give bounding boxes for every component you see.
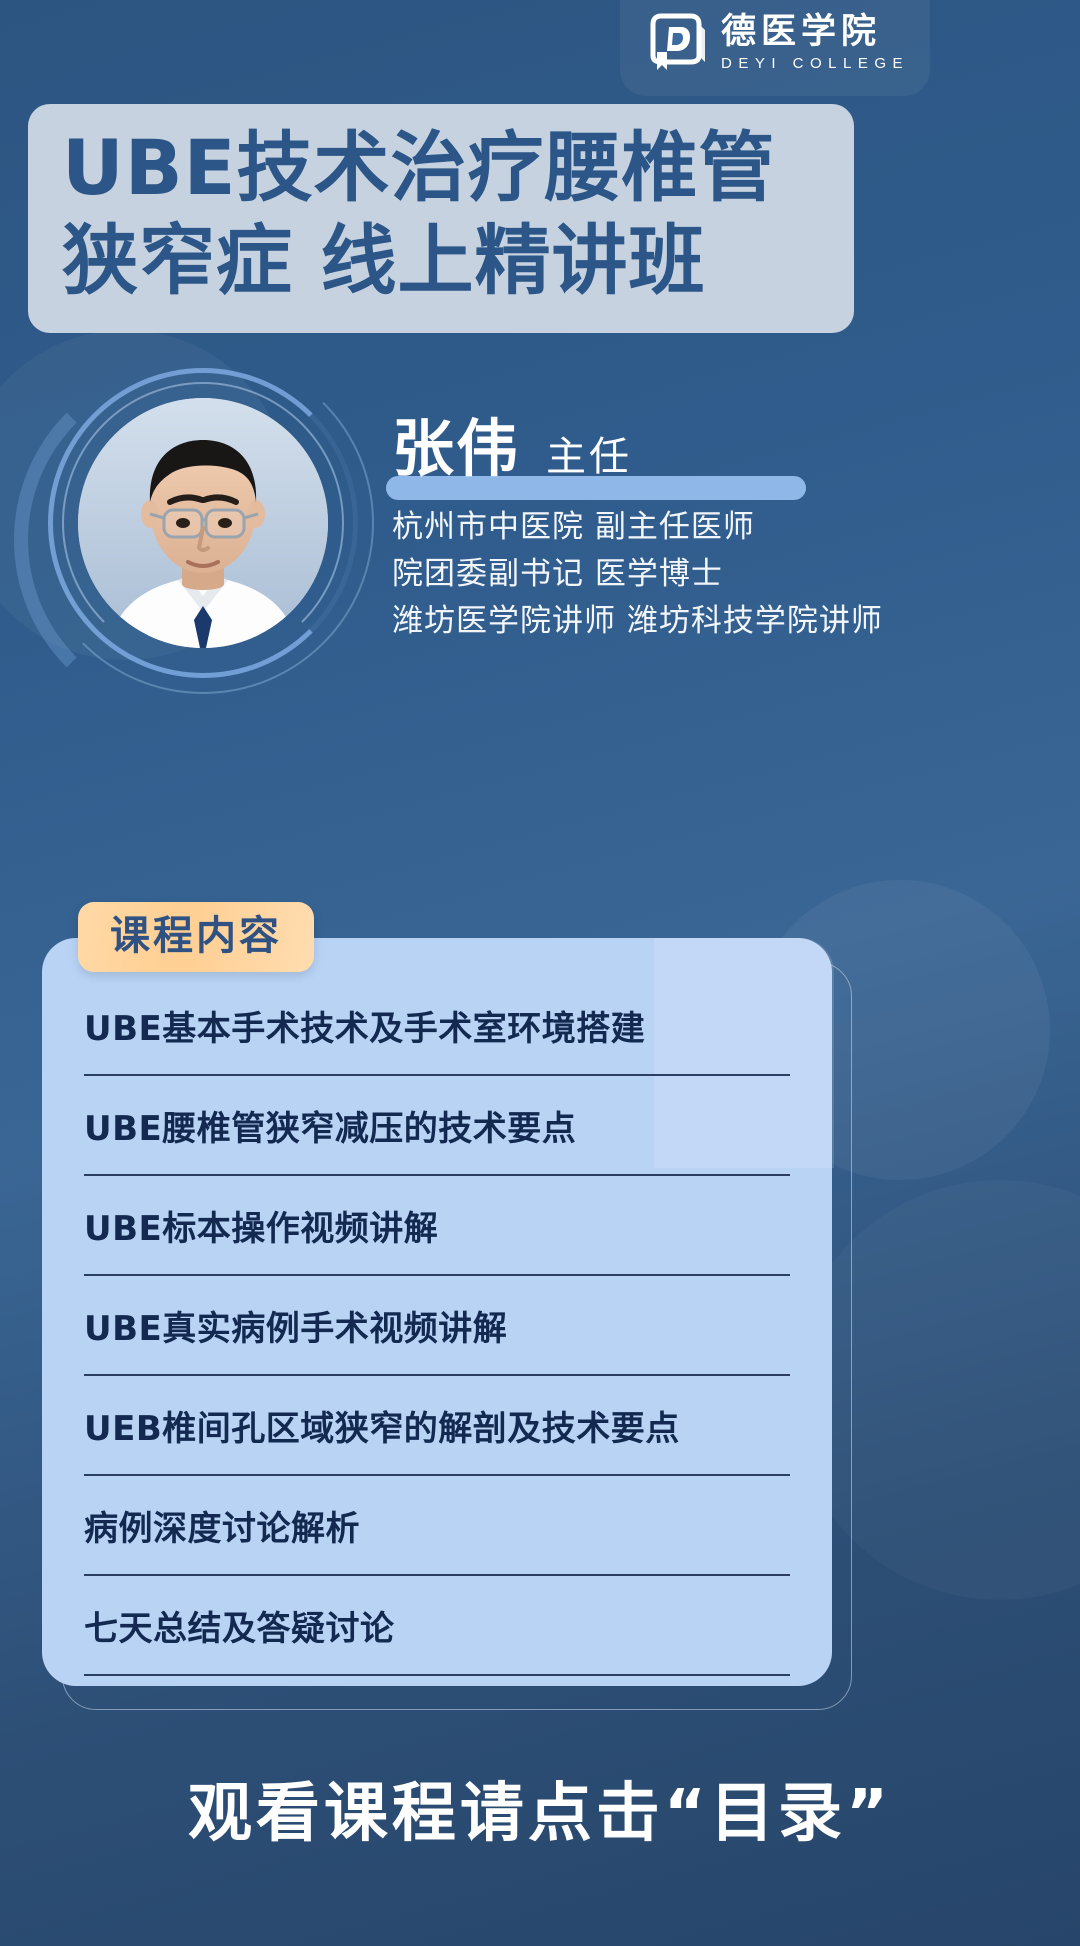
list-item[interactable]: UBE基本手术技术及手术室环境搭建 bbox=[84, 976, 790, 1076]
brand-name-cn: 德医学院 bbox=[721, 14, 909, 51]
instructor-portrait bbox=[78, 398, 328, 648]
brand-name-en: DEYI COLLEGE bbox=[721, 55, 909, 72]
brand-wordmark: 德医学院 DEYI COLLEGE bbox=[721, 14, 909, 73]
list-item[interactable]: 病例深度讨论解析 bbox=[84, 1476, 790, 1576]
instructor-bio: 张伟 主任 杭州市中医院 副主任医师 院团委副书记 医学博士 潍坊医学院讲师 潍… bbox=[392, 418, 1042, 645]
instructor-name: 张伟 bbox=[392, 418, 520, 480]
footer-cta-label: 观看课程请点击“目录” bbox=[188, 1777, 892, 1851]
avatar bbox=[48, 368, 358, 678]
section-badge-course-content: 课程内容 bbox=[78, 902, 314, 972]
instructor-credential-1: 杭州市中医院 副主任医师 bbox=[392, 504, 1042, 551]
course-item-label: UBE标本操作视频讲解 bbox=[84, 1201, 438, 1250]
footer-cta: 观看课程请点击“目录” bbox=[0, 1782, 1080, 1846]
poster-title-card: UBE技术治疗腰椎管 狭窄症 线上精讲班 bbox=[28, 104, 854, 333]
list-item[interactable]: UBE真实病例手术视频讲解 bbox=[84, 1276, 790, 1376]
instructor-role: 主任 bbox=[546, 437, 632, 477]
poster-title-line-1: UBE技术治疗腰椎管 bbox=[62, 122, 820, 215]
instructor-credential-3: 潍坊医学院讲师 潍坊科技学院讲师 bbox=[392, 598, 1042, 645]
course-content-panel: UBE基本手术技术及手术室环境搭建 UBE腰椎管狭窄减压的技术要点 UBE标本操… bbox=[42, 938, 832, 1686]
course-item-label: 七天总结及答疑讨论 bbox=[84, 1601, 395, 1650]
list-item[interactable]: UEB椎间孔区域狭窄的解剖及技术要点 bbox=[84, 1376, 790, 1476]
instructor-credential-2: 院团委副书记 医学博士 bbox=[392, 551, 1042, 598]
list-item[interactable]: UBE腰椎管狭窄减压的技术要点 bbox=[84, 1076, 790, 1176]
course-item-label: 病例深度讨论解析 bbox=[84, 1501, 360, 1550]
list-item[interactable]: UBE标本操作视频讲解 bbox=[84, 1176, 790, 1276]
section-badge-label: 课程内容 bbox=[110, 913, 282, 959]
course-item-label: UBE腰椎管狭窄减压的技术要点 bbox=[84, 1101, 576, 1150]
header: 德医学院 DEYI COLLEGE bbox=[0, 0, 1080, 96]
brand-logo: 德医学院 DEYI COLLEGE bbox=[645, 12, 909, 74]
course-item-label: UBE真实病例手术视频讲解 bbox=[84, 1301, 507, 1350]
course-item-label: UBE基本手术技术及手术室环境搭建 bbox=[84, 1001, 645, 1050]
poster-title-line-2: 狭窄症 线上精讲班 bbox=[62, 215, 820, 308]
book-logo-icon bbox=[645, 12, 709, 74]
instructor-section: 张伟 主任 杭州市中医院 副主任医师 院团委副书记 医学博士 潍坊医学院讲师 潍… bbox=[0, 340, 1080, 740]
poster-root: 德医学院 DEYI COLLEGE UBE技术治疗腰椎管 狭窄症 线上精讲班 bbox=[0, 0, 1080, 1946]
course-item-label: UEB椎间孔区域狭窄的解剖及技术要点 bbox=[84, 1401, 680, 1450]
list-item[interactable]: 七天总结及答疑讨论 bbox=[84, 1576, 790, 1676]
instructor-name-row: 张伟 主任 bbox=[392, 418, 1042, 504]
